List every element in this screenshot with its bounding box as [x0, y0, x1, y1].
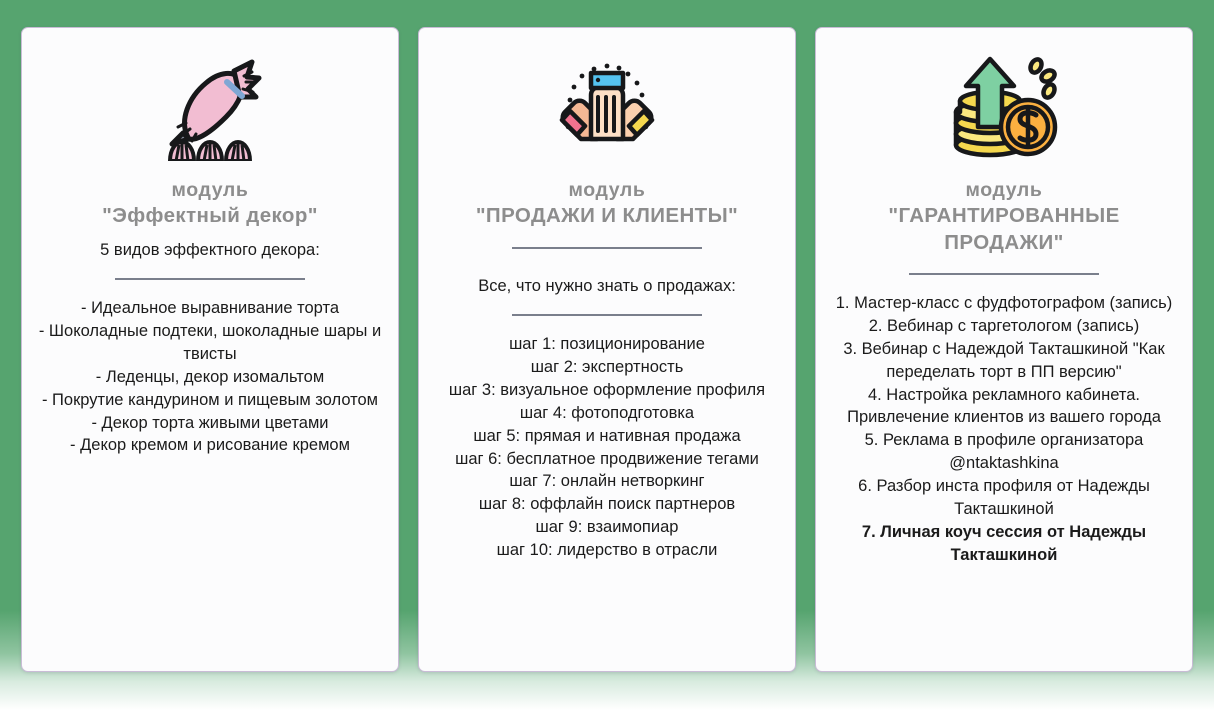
list-item: шаг 10: лидерство в отрасли	[449, 539, 765, 562]
card-subtitle: 5 видов эффектного декора:	[100, 240, 320, 262]
card-subtitle: Все, что нужно знать о продажах:	[478, 276, 736, 298]
list-item: - Идеальное выравнивание торта	[36, 297, 384, 320]
list-item: шаг 3: визуальное оформление профиля	[449, 379, 765, 402]
module-kicker: модуль	[568, 178, 645, 203]
module-card-guaranteed-sales: модуль "ГАРАНТИРОВАННЫЕ ПРОДАЖИ" 1. Маст…	[815, 27, 1193, 672]
list-item: - Декор торта живыми цветами	[36, 412, 384, 435]
module-title: "ПРОДАЖИ И КЛИЕНТЫ"	[476, 203, 738, 230]
module-title: "ГАРАНТИРОВАННЫЕ ПРОДАЖИ"	[830, 203, 1178, 256]
list-item: шаг 1: позиционирование	[449, 333, 765, 356]
module-kicker: модуль	[965, 178, 1042, 203]
decor-feature-list: - Идеальное выравнивание торта - Шоколад…	[36, 297, 384, 457]
list-item: 5. Реклама в профиле организатора @ntakt…	[830, 429, 1178, 475]
module-kicker: модуль	[171, 178, 248, 203]
list-item: 6. Разбор инста профиля от Надежды Такта…	[830, 475, 1178, 521]
module-card-effective-decor: модуль "Эффектный декор" 5 видов эффектн…	[21, 27, 399, 672]
list-item: 7. Личная коуч сессия от Надежды Такташк…	[830, 521, 1178, 567]
list-item: шаг 6: бесплатное продвижение тегами	[449, 448, 765, 471]
divider	[115, 278, 305, 280]
module-card-sales-and-clients: модуль "ПРОДАЖИ И КЛИЕНТЫ" Все, что нужн…	[418, 27, 796, 672]
divider	[909, 273, 1099, 275]
list-item: 3. Вебинар с Надеждой Такташкиной "Как п…	[830, 338, 1178, 384]
list-item: - Покрутие кандурином и пищевым золотом	[36, 389, 384, 412]
teamwork-hands-icon	[551, 46, 663, 164]
list-item: шаг 9: взаимопиар	[449, 516, 765, 539]
divider-top	[512, 247, 702, 249]
list-item: шаг 8: оффлайн поиск партнеров	[449, 493, 765, 516]
module-cards-row: модуль "Эффектный декор" 5 видов эффектн…	[0, 0, 1214, 710]
list-item: 1. Мастер-класс с фудфотографом (запись)	[830, 292, 1178, 315]
list-item: шаг 4: фотоподготовка	[449, 402, 765, 425]
divider-bottom	[512, 314, 702, 316]
list-item: - Леденцы, декор изомальтом	[36, 366, 384, 389]
list-item: - Шоколадные подтеки, шоколадные шары и …	[36, 320, 384, 366]
list-item: - Декор кремом и рисование кремом	[36, 434, 384, 457]
list-item: 4. Настройка рекламного кабинета. Привле…	[830, 384, 1178, 430]
coins-growth-icon	[946, 46, 1062, 164]
module-title: "Эффектный декор"	[102, 203, 318, 230]
piping-bag-icon	[156, 46, 264, 164]
sales-steps-list: шаг 1: позиционирование шаг 2: экспертно…	[449, 333, 765, 561]
list-item: шаг 2: экспертность	[449, 356, 765, 379]
list-item: 2. Вебинар с таргетологом (запись)	[830, 315, 1178, 338]
list-item: шаг 5: прямая и нативная продажа	[449, 425, 765, 448]
list-item: шаг 7: онлайн нетворкинг	[449, 470, 765, 493]
guaranteed-sales-list: 1. Мастер-класс с фудфотографом (запись)…	[830, 292, 1178, 566]
